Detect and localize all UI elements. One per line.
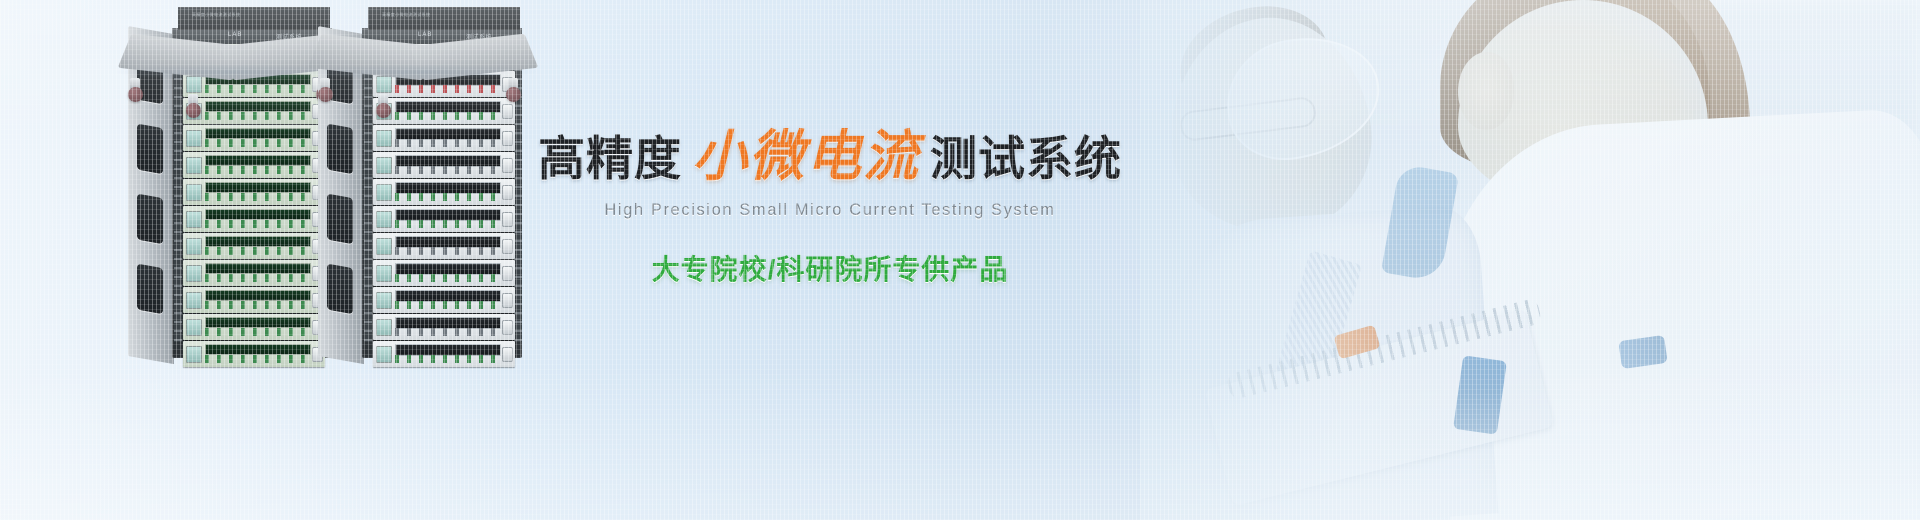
instrument-unit[interactable]	[183, 179, 325, 205]
unit-connector-row	[395, 328, 503, 336]
unit-display	[205, 263, 311, 274]
promo-banner: LAB 测试系统 高精度小微电流测试系统	[0, 0, 1920, 520]
instrument-unit[interactable]	[183, 152, 325, 178]
unit-display	[205, 128, 311, 139]
instrument-unit[interactable]	[373, 233, 515, 259]
unit-connector-row	[205, 274, 311, 282]
unit-knob[interactable]	[502, 185, 513, 200]
rack-vent	[327, 264, 353, 315]
unit-connector-row	[205, 220, 311, 228]
unit-display	[205, 317, 311, 328]
instrument-unit[interactable]	[183, 125, 325, 151]
title-segment-1: 高精度	[538, 135, 682, 182]
instrument-unit[interactable]	[183, 287, 325, 313]
rack-base-label: 高精度小微电流测试系统	[192, 12, 240, 18]
unit-display	[205, 236, 311, 247]
unit-connector-row	[395, 166, 503, 174]
unit-connector-row	[395, 355, 503, 363]
instrument-unit[interactable]	[373, 98, 515, 124]
unit-connector-row	[205, 193, 311, 201]
banner-subtitle-chinese: 大专院校/科研院所专供产品	[520, 248, 1140, 288]
unit-connector-row	[395, 220, 503, 228]
unit-connector-row	[205, 139, 311, 147]
unit-connector-row	[395, 85, 503, 93]
unit-connector-row	[205, 301, 311, 309]
rack-unit-list	[183, 44, 325, 368]
female-scientist-ear	[1458, 52, 1514, 130]
rack-vent	[137, 264, 163, 315]
unit-display-small	[376, 238, 392, 255]
instrument-unit[interactable]	[373, 341, 515, 367]
instrument-unit[interactable]	[373, 179, 515, 205]
caster-wheel	[318, 87, 333, 102]
unit-knob[interactable]	[502, 320, 513, 335]
rack-brand-label: LAB	[228, 32, 242, 38]
banner-subtitle-english: High Precision Small Micro Current Testi…	[520, 201, 1140, 220]
unit-knob[interactable]	[502, 347, 513, 362]
instrument-unit[interactable]	[183, 260, 325, 286]
unit-display-small	[186, 157, 202, 174]
instrument-unit[interactable]	[183, 341, 325, 367]
rack-brand-label: LAB	[418, 32, 432, 38]
unit-connector-row	[205, 112, 311, 120]
unit-display-small	[376, 184, 392, 201]
unit-display-small	[186, 319, 202, 336]
unit-display-small	[376, 319, 392, 336]
rack-vent	[327, 124, 353, 175]
unit-display	[205, 101, 311, 112]
caster-wheel	[186, 103, 201, 118]
unit-connector-row	[205, 355, 311, 363]
unit-display-small	[186, 238, 202, 255]
unit-connector-row	[395, 193, 503, 201]
unit-display-small	[186, 130, 202, 147]
rack-rail-left	[174, 42, 182, 342]
unit-display	[205, 155, 311, 166]
unit-connector-row	[395, 247, 503, 255]
unit-display-small	[186, 184, 202, 201]
banner-text-block: 高精度 小微电流 测试系统 High Precision Small Micro…	[520, 128, 1140, 288]
unit-knob[interactable]	[502, 266, 513, 281]
lab-scientists-photo	[1140, 0, 1920, 520]
unit-display	[205, 344, 311, 355]
unit-display-small	[186, 292, 202, 309]
rack-base-label: 高精度小微电流测试系统	[382, 12, 430, 18]
caster-wheel	[128, 87, 143, 102]
unit-connector-row	[205, 85, 311, 93]
unit-display-small	[376, 157, 392, 174]
unit-display-small	[376, 265, 392, 282]
rack-vent	[137, 124, 163, 175]
unit-knob[interactable]	[502, 158, 513, 173]
unit-display-small	[186, 265, 202, 282]
instrument-unit[interactable]	[373, 125, 515, 151]
unit-connector-row	[205, 247, 311, 255]
instrument-unit[interactable]	[183, 314, 325, 340]
unit-knob[interactable]	[502, 239, 513, 254]
banner-title: 高精度 小微电流 测试系统	[520, 128, 1140, 183]
rack-vent	[327, 194, 353, 245]
title-segment-accent: 小微电流	[692, 128, 920, 183]
unit-display-small	[376, 346, 392, 363]
unit-display-small	[186, 346, 202, 363]
instrument-unit[interactable]	[373, 260, 515, 286]
rack-rail-left	[364, 42, 372, 342]
instrument-unit[interactable]	[183, 206, 325, 232]
caster-wheel	[506, 87, 521, 102]
unit-connector-row	[395, 274, 503, 282]
rack-unit-list	[373, 44, 515, 368]
instrument-unit[interactable]	[373, 152, 515, 178]
unit-connector-row	[205, 328, 311, 336]
instrument-unit[interactable]	[183, 98, 325, 124]
unit-display	[205, 290, 311, 301]
unit-display	[205, 182, 311, 193]
unit-display-small	[376, 211, 392, 228]
unit-knob[interactable]	[502, 104, 513, 119]
rack-lower-panel: 高精度小微电流测试系统	[368, 7, 520, 30]
unit-connector-row	[205, 166, 311, 174]
instrument-unit[interactable]	[373, 314, 515, 340]
unit-display	[205, 209, 311, 220]
rack-vent	[137, 194, 163, 245]
unit-display-small	[186, 211, 202, 228]
unit-knob[interactable]	[502, 131, 513, 146]
title-segment-3: 测试系统	[930, 135, 1122, 182]
unit-knob[interactable]	[502, 212, 513, 227]
unit-display-small	[376, 130, 392, 147]
rack-lower-panel: 高精度小微电流测试系统	[178, 7, 330, 30]
rack-shadow	[306, 64, 536, 80]
unit-connector-row	[395, 301, 503, 309]
unit-connector-row	[395, 112, 503, 120]
unit-knob[interactable]	[502, 293, 513, 308]
instrument-unit[interactable]	[373, 287, 515, 313]
instrument-unit[interactable]	[183, 233, 325, 259]
unit-display-small	[376, 292, 392, 309]
unit-connector-row	[395, 139, 503, 147]
caster-wheel	[376, 103, 391, 118]
instrument-unit[interactable]	[373, 206, 515, 232]
